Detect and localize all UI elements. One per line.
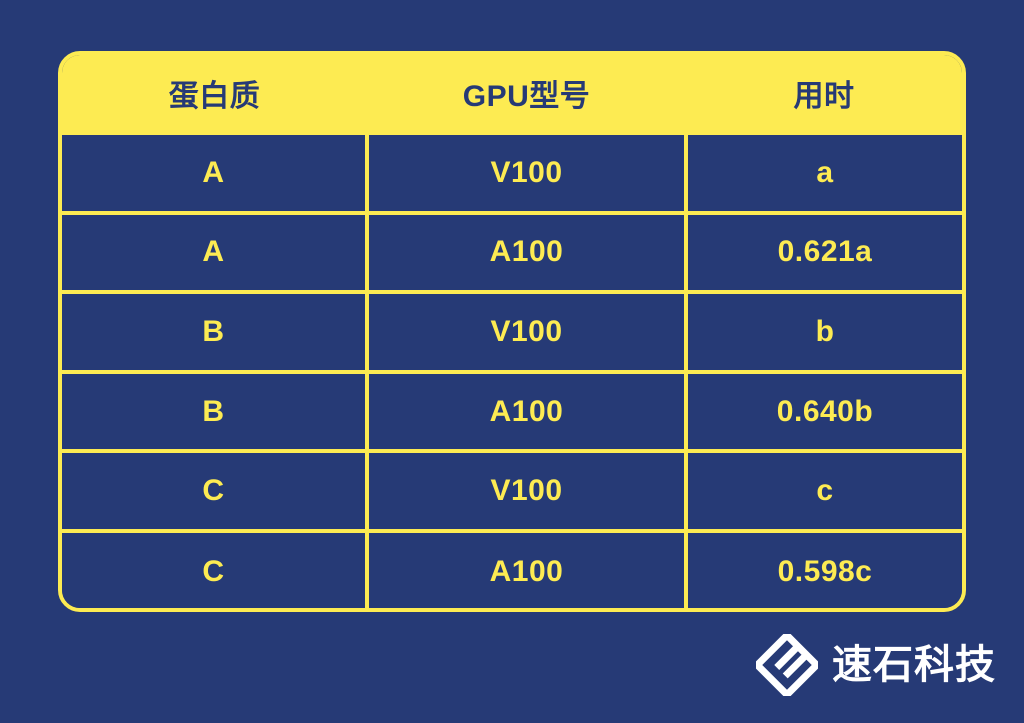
table-row: C A100 0.598c [62,531,962,611]
table-header: 蛋白质 GPU型号 用时 [62,55,962,133]
table-row: A V100 a [62,133,962,213]
column-header-gpu-model: GPU型号 [367,55,686,133]
table-header-row: 蛋白质 GPU型号 用时 [62,55,962,133]
cell-protein: C [62,531,367,611]
cell-time: 0.640b [686,372,962,452]
cell-protein: B [62,292,367,372]
cell-time: a [686,133,962,213]
table-row: A A100 0.621a [62,213,962,293]
column-header-protein: 蛋白质 [62,55,367,133]
cell-gpu: A100 [367,531,686,611]
comparison-table-card: 蛋白质 GPU型号 用时 A V100 a A A100 0.621a B V1… [58,51,966,612]
cell-protein: C [62,451,367,531]
cell-protein: A [62,133,367,213]
cell-protein: A [62,213,367,293]
cell-protein: B [62,372,367,452]
table-row: B A100 0.640b [62,372,962,452]
cell-time: c [686,451,962,531]
brand-name: 速石科技 [832,645,996,685]
cell-time: 0.598c [686,531,962,611]
cell-time: 0.621a [686,213,962,293]
cell-gpu: A100 [367,213,686,293]
cell-time: b [686,292,962,372]
table-row: C V100 c [62,451,962,531]
table-row: B V100 b [62,292,962,372]
column-header-duration: 用时 [686,55,962,133]
cell-gpu: V100 [367,133,686,213]
cell-gpu: V100 [367,292,686,372]
table-body: A V100 a A A100 0.621a B V100 b B A100 0… [62,133,962,611]
gpu-benchmark-table: 蛋白质 GPU型号 用时 A V100 a A A100 0.621a B V1… [62,55,962,611]
cell-gpu: V100 [367,451,686,531]
diamond-chevron-logo-icon [756,634,818,696]
brand-logo: 速石科技 [756,634,996,696]
cell-gpu: A100 [367,372,686,452]
